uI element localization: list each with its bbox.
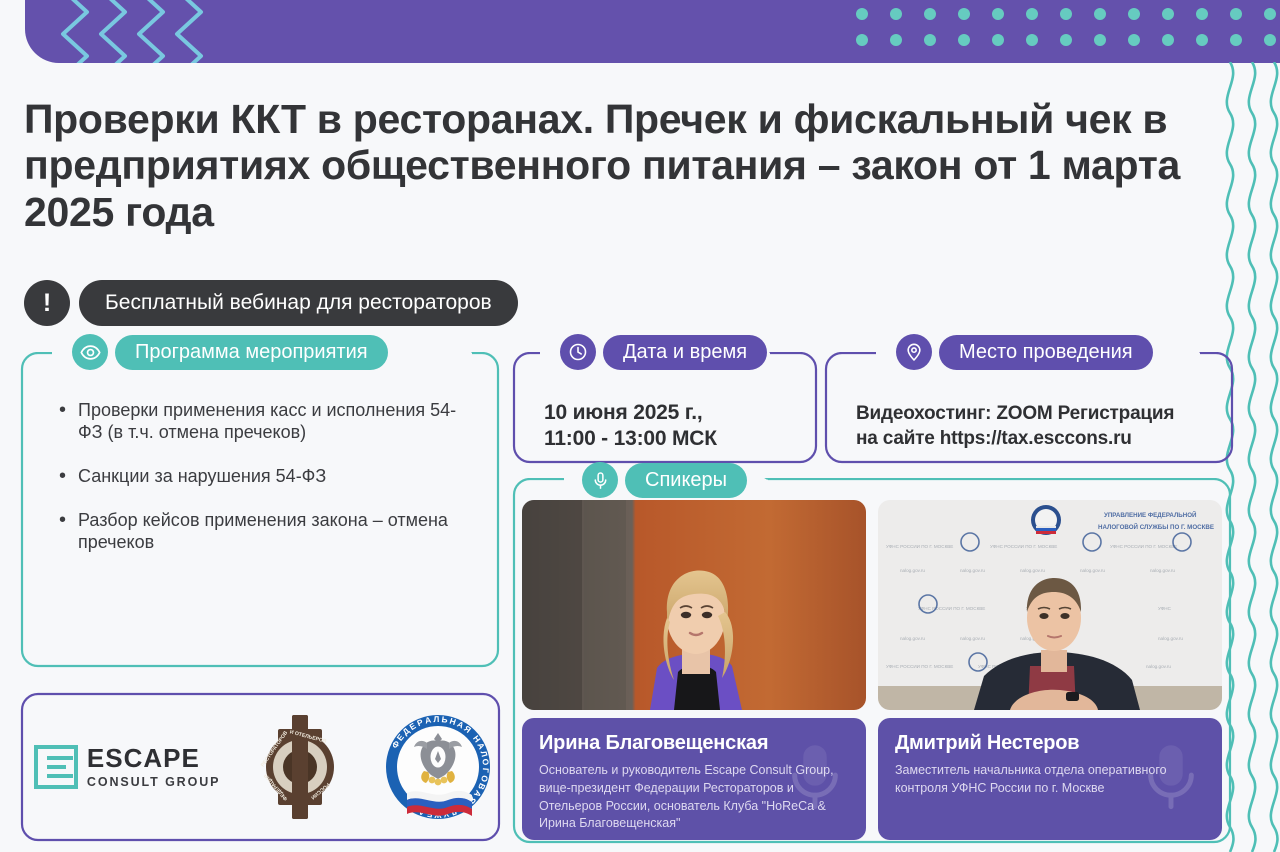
portrait-man-dark-suit: УФНС РОССИИ ПО Г. МОСКВЕ УФНС РОССИИ ПО … bbox=[878, 500, 1222, 710]
escape-consult-group-logo: ESCAPE CONSULT GROUP bbox=[34, 745, 221, 789]
dot bbox=[992, 34, 1004, 46]
dot bbox=[890, 8, 902, 20]
escape-mark-icon bbox=[34, 745, 78, 789]
svg-text:УФНС РОССИИ ПО Г. МОСКВЕ: УФНС РОССИИ ПО Г. МОСКВЕ bbox=[886, 664, 953, 669]
dot bbox=[1230, 8, 1242, 20]
dot bbox=[856, 34, 868, 46]
svg-text:УФНС РОССИИ ПО Г. МОСКВЕ: УФНС РОССИИ ПО Г. МОСКВЕ bbox=[990, 544, 1057, 549]
place-line-2: на сайте https://tax.esccons.ru bbox=[856, 427, 1236, 452]
dot bbox=[958, 34, 970, 46]
escape-logo-line-1: ESCAPE bbox=[87, 745, 221, 771]
place-value: Видеохостинг: ZOOM Регистрация на сайте … bbox=[856, 402, 1236, 451]
place-header: Место проведения bbox=[896, 334, 1153, 370]
escape-logo-text: ESCAPE CONSULT GROUP bbox=[87, 745, 221, 789]
svg-text:nalog.gov.ru: nalog.gov.ru bbox=[1158, 636, 1183, 641]
dot bbox=[1060, 34, 1072, 46]
federation-of-restaurateurs-and-hoteliers-logo: ФЕДЕРАЦИЯ РЕСТОРАТОРОВ И ОТЕЛЬЕРОВ РОССИ… bbox=[248, 713, 352, 821]
badge-label: Бесплатный вебинар для рестораторов bbox=[79, 280, 518, 326]
program-card: Программа мероприятия Проверки применени… bbox=[20, 352, 510, 668]
logos-row: ESCAPE CONSULT GROUP ФЕДЕРАЦИЯ РЕСТОРАТО… bbox=[20, 692, 510, 842]
dot bbox=[1060, 8, 1072, 20]
microphone-icon bbox=[582, 462, 618, 498]
svg-text:Л: Л bbox=[433, 714, 439, 724]
date-line: 10 июня 2025 г., bbox=[544, 400, 717, 426]
svg-text:nalog.gov.ru: nalog.gov.ru bbox=[1146, 664, 1171, 669]
microphone-watermark-icon bbox=[1134, 722, 1208, 832]
datetime-value: 10 июня 2025 г., 11:00 - 13:00 МСК bbox=[544, 400, 717, 453]
place-line-1: Видеохостинг: ZOOM Регистрация bbox=[856, 402, 1236, 427]
svg-text:nalog.gov.ru: nalog.gov.ru bbox=[1020, 568, 1045, 573]
dot bbox=[958, 8, 970, 20]
datetime-label: Дата и время bbox=[603, 335, 767, 370]
dots-decoration bbox=[856, 8, 1276, 46]
header-band bbox=[25, 0, 1280, 63]
svg-text:УФНС РОССИИ ПО Г. МОСКВЕ: УФНС РОССИИ ПО Г. МОСКВЕ bbox=[1110, 544, 1177, 549]
datetime-card: Дата и время 10 июня 2025 г., 11:00 - 13… bbox=[512, 352, 820, 462]
speaker-photo-2: УФНС РОССИИ ПО Г. МОСКВЕ УФНС РОССИИ ПО … bbox=[878, 500, 1222, 710]
eye-icon bbox=[72, 334, 108, 370]
speakers-grid: Ирина Благовещенская Основатель и руково… bbox=[522, 500, 1222, 840]
time-line: 11:00 - 13:00 МСК bbox=[544, 426, 717, 452]
microphone-watermark-icon bbox=[778, 722, 852, 832]
list-item: Разбор кейсов применения закона – отмена… bbox=[56, 510, 476, 554]
dot bbox=[1162, 8, 1174, 20]
portrait-woman-purple-blazer bbox=[522, 500, 866, 710]
federal-tax-service-logo: Ф Е Д Е Р А Л Ь Н А Я Н А Л О Г О bbox=[380, 709, 496, 825]
speakers-card: Спикеры bbox=[512, 478, 1236, 842]
dot bbox=[992, 8, 1004, 20]
svg-text:nalog.gov.ru: nalog.gov.ru bbox=[900, 568, 925, 573]
dot bbox=[1162, 34, 1174, 46]
dot bbox=[1128, 8, 1140, 20]
svg-text:nalog.gov.ru: nalog.gov.ru bbox=[960, 636, 985, 641]
zigzag-decoration bbox=[53, 0, 353, 63]
speaker-info-1: Ирина Благовещенская Основатель и руково… bbox=[522, 718, 866, 840]
place-card: Место проведения Видеохостинг: ZOOM Реги… bbox=[824, 352, 1236, 462]
dot bbox=[924, 34, 936, 46]
svg-text:nalog.gov.ru: nalog.gov.ru bbox=[1080, 568, 1105, 573]
speaker-card: УФНС РОССИИ ПО Г. МОСКВЕ УФНС РОССИИ ПО … bbox=[878, 500, 1222, 840]
svg-text:УФНС РОССИИ ПО Г. МОСКВЕ: УФНС РОССИИ ПО Г. МОСКВЕ bbox=[886, 544, 953, 549]
speakers-header: Спикеры bbox=[582, 462, 747, 498]
svg-text:УПРАВЛЕНИЕ ФЕДЕРАЛЬНОЙ: УПРАВЛЕНИЕ ФЕДЕРАЛЬНОЙ bbox=[1104, 511, 1197, 519]
dot bbox=[1128, 34, 1140, 46]
dot bbox=[1026, 8, 1038, 20]
dot bbox=[1264, 34, 1276, 46]
dot bbox=[1026, 34, 1038, 46]
svg-text:УФНС: УФНС bbox=[1158, 606, 1172, 611]
dot bbox=[1264, 8, 1276, 20]
speakers-label: Спикеры bbox=[625, 463, 747, 498]
logos-card: ESCAPE CONSULT GROUP ФЕДЕРАЦИЯ РЕСТОРАТО… bbox=[20, 692, 510, 842]
escape-logo-line-2: CONSULT GROUP bbox=[87, 775, 221, 789]
dot bbox=[1094, 8, 1106, 20]
speaker-card: Ирина Благовещенская Основатель и руково… bbox=[522, 500, 866, 840]
speaker-info-2: Дмитрий Нестеров Заместитель начальника … bbox=[878, 718, 1222, 840]
list-item: Проверки применения касс и исполнения 54… bbox=[56, 400, 476, 444]
exclamation-icon: ! bbox=[24, 280, 70, 326]
svg-text:НАЛОГОВОЙ СЛУЖБЫ ПО Г. МОСКВЕ: НАЛОГОВОЙ СЛУЖБЫ ПО Г. МОСКВЕ bbox=[1098, 523, 1214, 531]
dot bbox=[890, 34, 902, 46]
dot bbox=[1094, 34, 1106, 46]
dot bbox=[1196, 8, 1208, 20]
dot bbox=[1230, 34, 1242, 46]
clock-icon bbox=[560, 334, 596, 370]
svg-text:nalog.gov.ru: nalog.gov.ru bbox=[1150, 568, 1175, 573]
svg-text:nalog.gov.ru: nalog.gov.ru bbox=[960, 568, 985, 573]
webinar-poster: Проверки ККТ в ресторанах. Пречек и фиск… bbox=[0, 0, 1280, 852]
program-label: Программа мероприятия bbox=[115, 335, 388, 370]
svg-text:nalog.gov.ru: nalog.gov.ru bbox=[900, 636, 925, 641]
program-header: Программа мероприятия bbox=[72, 334, 388, 370]
svg-text:Г: Г bbox=[481, 768, 491, 774]
location-pin-icon bbox=[896, 334, 932, 370]
dot bbox=[1196, 34, 1208, 46]
free-webinar-badge: ! Бесплатный вебинар для рестораторов bbox=[24, 280, 518, 326]
program-list: Проверки применения касс и исполнения 54… bbox=[56, 400, 476, 576]
datetime-header: Дата и время bbox=[560, 334, 767, 370]
svg-text:УФНС РОССИИ ПО Г. МОСКВЕ: УФНС РОССИИ ПО Г. МОСКВЕ bbox=[918, 606, 985, 611]
speaker-photo-1 bbox=[522, 500, 866, 710]
list-item: Санкции за нарушения 54-ФЗ bbox=[56, 466, 476, 488]
dot bbox=[856, 8, 868, 20]
dot bbox=[924, 8, 936, 20]
page-title: Проверки ККТ в ресторанах. Пречек и фиск… bbox=[24, 96, 1239, 235]
place-label: Место проведения bbox=[939, 335, 1153, 370]
